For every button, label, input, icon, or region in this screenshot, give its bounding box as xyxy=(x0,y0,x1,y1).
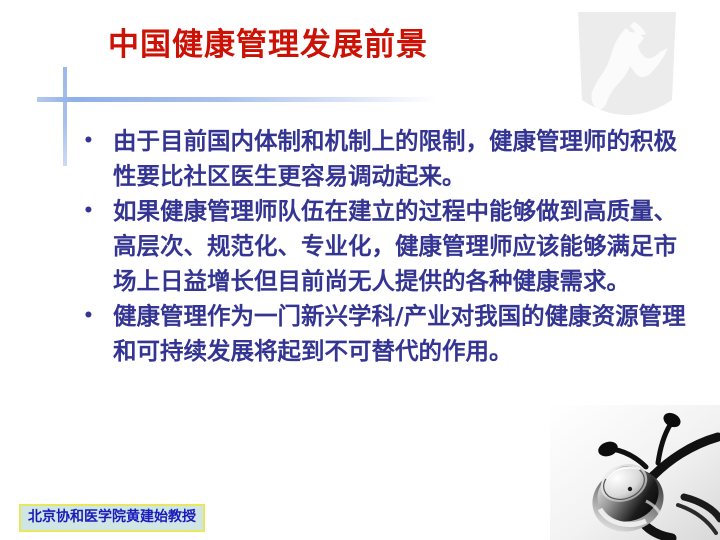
bullet-item: • 健康管理作为一门新兴学科/产业对我国的健康资源管理和可持续发展将起到不可替代… xyxy=(78,299,700,369)
bullet-text: 如果健康管理师队伍在建立的过程中能够做到高质量、高层次、规范化、专业化，健康管理… xyxy=(113,194,700,299)
decor-vertical-line xyxy=(63,67,67,166)
bullet-item: • 由于目前国内体制和机制上的限制，健康管理师的积极性要比社区医生更容易调动起来… xyxy=(78,124,700,194)
decor-horizontal-line xyxy=(37,97,437,102)
presentation-slide: 中国健康管理发展前景 • 由于目前国内体制和机制上的限制，健康管理师的积极性要比… xyxy=(0,0,720,540)
slide-body: • 由于目前国内体制和机制上的限制，健康管理师的积极性要比社区医生更容易调动起来… xyxy=(78,124,700,369)
bullet-item: • 如果健康管理师队伍在建立的过程中能够做到高质量、高层次、规范化、专业化，健康… xyxy=(78,194,700,299)
stethoscope-photo xyxy=(550,405,720,540)
bullet-marker-icon: • xyxy=(78,299,113,334)
credit-textbox: 北京协和医学院黄建始教授 xyxy=(19,504,205,532)
bullet-text: 健康管理作为一门新兴学科/产业对我国的健康资源管理和可持续发展将起到不可替代的作… xyxy=(113,299,700,369)
shield-logo-watermark xyxy=(572,8,682,126)
bullet-marker-icon: • xyxy=(78,124,113,159)
slide-title: 中国健康管理发展前景 xyxy=(108,28,668,64)
bullet-text: 由于目前国内体制和机制上的限制，健康管理师的积极性要比社区医生更容易调动起来。 xyxy=(113,124,700,194)
bullet-marker-icon: • xyxy=(78,194,113,229)
